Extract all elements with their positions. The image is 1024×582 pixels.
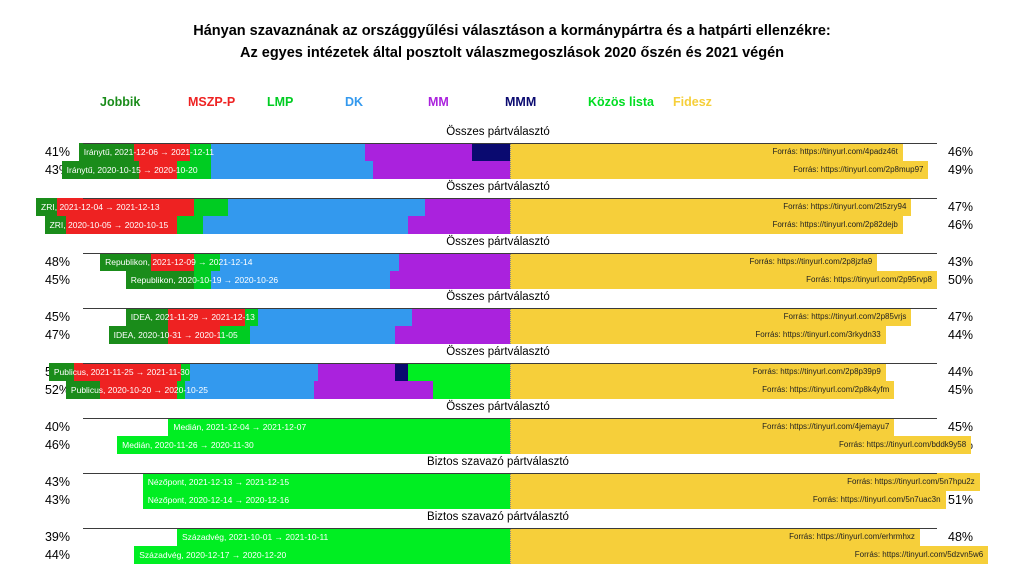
poll-rows: 48%43%Republikon, 2021-12-09 → 2021-12-1… bbox=[83, 253, 937, 289]
poll-institute-label: Republikon, 2020-10-19 → 2020-10-26 bbox=[131, 271, 278, 289]
bar-segment-mm bbox=[399, 253, 510, 271]
fidesz-percent-label: 47% bbox=[948, 308, 1008, 326]
source-link-label[interactable]: Forrás: https://tinyurl.com/3rkydn33 bbox=[755, 326, 880, 344]
poll-group: Összes pártválasztó40%45%Medián, 2021-12… bbox=[0, 401, 1024, 456]
opposition-percent-label: 44% bbox=[0, 546, 70, 564]
legend-item-fidesz: Fidesz bbox=[673, 95, 712, 109]
fifty-percent-gridline bbox=[510, 528, 511, 564]
source-link-label[interactable]: Forrás: https://tinyurl.com/2p85vrjs bbox=[784, 308, 907, 326]
fidesz-percent-label: 46% bbox=[948, 143, 1008, 161]
bar-segment-lmp bbox=[177, 216, 203, 234]
source-link-label[interactable]: Forrás: https://tinyurl.com/2p8p39p9 bbox=[753, 363, 881, 381]
source-link-label[interactable]: Forrás: https://tinyurl.com/2p82dejb bbox=[772, 216, 897, 234]
group-sample-text: Összes pártválasztó bbox=[446, 291, 550, 303]
bar-top-edge bbox=[83, 253, 937, 254]
bar-top-edge bbox=[83, 418, 937, 419]
bar-segment-mmm bbox=[395, 363, 408, 381]
group-sample-label: Összes pártválasztó bbox=[0, 291, 1024, 308]
source-link-label[interactable]: Forrás: https://tinyurl.com/5n7hpu2z bbox=[847, 473, 975, 491]
legend-item-jobbik: Jobbik bbox=[100, 95, 140, 109]
poll-institute-label: Medián, 2020-11-26 → 2020-11-30 bbox=[122, 436, 254, 454]
page-title: Hányan szavaznának az országgyűlési vála… bbox=[0, 20, 1024, 64]
opposition-percent-label: 47% bbox=[0, 326, 70, 344]
group-sample-text: Biztos szavazó pártválasztó bbox=[427, 456, 569, 468]
poll-institute-label: IDEA, 2021-11-29 → 2021-12-13 bbox=[131, 308, 255, 326]
group-sample-text: Összes pártválasztó bbox=[446, 346, 550, 358]
fifty-percent-gridline bbox=[510, 473, 511, 509]
fidesz-percent-label: 44% bbox=[948, 326, 1008, 344]
fidesz-percent-label: 44% bbox=[948, 363, 1008, 381]
poll-institute-label: Republikon, 2021-12-09 → 2021-12-14 bbox=[105, 253, 252, 271]
bar-segment-mm bbox=[365, 143, 472, 161]
poll-group: Biztos szavazó pártválasztó43%55%Nézőpon… bbox=[0, 456, 1024, 511]
source-link-label[interactable]: Forrás: https://tinyurl.com/5n7uac3n bbox=[813, 491, 941, 509]
fidesz-percent-label: 45% bbox=[948, 381, 1008, 399]
group-sample-label: Összes pártválasztó bbox=[0, 126, 1024, 143]
bar-segment-dk bbox=[211, 161, 373, 179]
bar-segment-dk bbox=[228, 198, 424, 216]
bar-segment-mm bbox=[373, 161, 510, 179]
source-link-label[interactable]: Forrás: https://tinyurl.com/2p95rvp8 bbox=[806, 271, 932, 289]
bar-top-edge bbox=[83, 528, 937, 529]
group-sample-label: Összes pártválasztó bbox=[0, 181, 1024, 198]
poll-group: Összes pártválasztó45%47%IDEA, 2021-11-2… bbox=[0, 291, 1024, 346]
poll-group: Összes pártválasztó54%44%Publicus, 2021-… bbox=[0, 346, 1024, 401]
poll-group: Összes pártválasztó47%47%ZRI, 2021-12-04… bbox=[0, 181, 1024, 236]
bar-segment-dk bbox=[250, 326, 395, 344]
poll-rows: 54%44%Publicus, 2021-11-25 → 2021-11-30F… bbox=[83, 363, 937, 399]
poll-institute-label: ZRI, 2021-12-04 → 2021-12-13 bbox=[41, 198, 160, 216]
source-link-label[interactable]: Forrás: https://tinyurl.com/erhrmhxz bbox=[789, 528, 915, 546]
group-sample-text: Összes pártválasztó bbox=[446, 236, 550, 248]
bar-segment-mm bbox=[390, 271, 510, 289]
opposition-percent-label: 41% bbox=[0, 143, 70, 161]
poll-institute-label: ZRI, 2020-10-05 → 2020-10-15 bbox=[50, 216, 169, 234]
opposition-percent-label: 48% bbox=[0, 253, 70, 271]
fifty-percent-gridline bbox=[510, 418, 511, 454]
opposition-percent-label: 43% bbox=[0, 161, 70, 179]
poll-rows: 40%45%Medián, 2021-12-04 → 2021-12-07For… bbox=[83, 418, 937, 454]
bar-top-edge bbox=[83, 198, 937, 199]
legend-item-dk: DK bbox=[345, 95, 363, 109]
opposition-percent-label: 45% bbox=[0, 271, 70, 289]
fidesz-percent-label: 47% bbox=[948, 198, 1008, 216]
poll-institute-label: Nézőpont, 2021-12-13 → 2021-12-15 bbox=[148, 473, 289, 491]
opposition-percent-label: 43% bbox=[0, 491, 70, 509]
chart-body: Összes pártválasztó41%46%Iránytű, 2021-1… bbox=[0, 126, 1024, 566]
bar-segment-dk bbox=[190, 363, 318, 381]
legend-item-mmm: MMM bbox=[505, 95, 536, 109]
legend-item-k-z-s-lista: Közös lista bbox=[588, 95, 654, 109]
bar-segment-mm bbox=[314, 381, 434, 399]
fidesz-percent-label: 50% bbox=[948, 271, 1008, 289]
group-sample-label: Biztos szavazó pártválasztó bbox=[0, 456, 1024, 473]
bar-segment-dk bbox=[211, 143, 365, 161]
poll-institute-label: IDEA, 2020-10-31 → 2020-11-05 bbox=[114, 326, 238, 344]
bar-segment-mm bbox=[395, 326, 510, 344]
bar-segment-dk bbox=[203, 216, 408, 234]
source-link-label[interactable]: Forrás: https://tinyurl.com/5dzvn5w6 bbox=[855, 546, 984, 564]
legend-item-mszp-p: MSZP-P bbox=[188, 95, 235, 109]
poll-rows: 47%47%ZRI, 2021-12-04 → 2021-12-13Forrás… bbox=[83, 198, 937, 234]
fifty-percent-gridline bbox=[510, 143, 511, 179]
poll-institute-label: Medián, 2021-12-04 → 2021-12-07 bbox=[173, 418, 306, 436]
source-link-label[interactable]: Forrás: https://tinyurl.com/bddk9y58 bbox=[839, 436, 966, 454]
bar-segment-dk bbox=[258, 308, 412, 326]
source-link-label[interactable]: Forrás: https://tinyurl.com/2p8k4yfm bbox=[762, 381, 889, 399]
poll-rows: 43%55%Nézőpont, 2021-12-13 → 2021-12-15F… bbox=[83, 473, 937, 509]
fidesz-percent-label: 51% bbox=[948, 491, 1008, 509]
poll-institute-label: Iránytű, 2021-12-06 → 2021-12-11 bbox=[84, 143, 214, 161]
source-link-label[interactable]: Forrás: https://tinyurl.com/4padz46t bbox=[772, 143, 897, 161]
source-link-label[interactable]: Forrás: https://tinyurl.com/2p8jzfa9 bbox=[750, 253, 873, 271]
poll-group: Összes pártválasztó48%43%Republikon, 202… bbox=[0, 236, 1024, 291]
fifty-percent-gridline bbox=[510, 308, 511, 344]
group-sample-label: Összes pártválasztó bbox=[0, 401, 1024, 418]
opposition-percent-label: 40% bbox=[0, 418, 70, 436]
fifty-percent-gridline bbox=[510, 253, 511, 289]
bar-segment-k-z-s-lista bbox=[433, 381, 510, 399]
poll-institute-label: Publicus, 2020-10-20 → 2020-10-25 bbox=[71, 381, 208, 399]
poll-institute-label: Századvég, 2021-10-01 → 2021-10-11 bbox=[182, 528, 328, 546]
poll-institute-label: Iránytű, 2020-10-15 → 2020-10-20 bbox=[67, 161, 198, 179]
legend-item-mm: MM bbox=[428, 95, 449, 109]
source-link-label[interactable]: Forrás: https://tinyurl.com/2p8mup97 bbox=[793, 161, 923, 179]
chart-legend: JobbikMSZP-PLMPDKMMMMMKözös listaFidesz bbox=[83, 95, 941, 113]
group-sample-label: Biztos szavazó pártválasztó bbox=[0, 511, 1024, 528]
title-line-1: Hányan szavaznának az országgyűlési vála… bbox=[0, 20, 1024, 42]
bar-segment-mmm bbox=[472, 143, 510, 161]
poll-group: Összes pártválasztó41%46%Iránytű, 2021-1… bbox=[0, 126, 1024, 181]
bar-segment-mm bbox=[318, 363, 395, 381]
poll-institute-label: Nézőpont, 2020-12-14 → 2020-12-16 bbox=[148, 491, 289, 509]
poll-institute-label: Századvég, 2020-12-17 → 2020-12-20 bbox=[139, 546, 286, 564]
bar-top-edge bbox=[83, 143, 937, 144]
bar-segment-lmp bbox=[194, 198, 228, 216]
fifty-percent-gridline bbox=[510, 198, 511, 234]
poll-rows: 41%46%Iránytű, 2021-12-06 → 2021-12-11Fo… bbox=[83, 143, 937, 179]
fidesz-percent-label: 46% bbox=[948, 216, 1008, 234]
title-line-2: Az egyes intézetek által posztolt válasz… bbox=[0, 42, 1024, 64]
opposition-percent-label: 46% bbox=[0, 436, 70, 454]
bar-segment-mm bbox=[412, 308, 510, 326]
poll-rows: 39%48%Századvég, 2021-10-01 → 2021-10-11… bbox=[83, 528, 937, 564]
group-sample-text: Összes pártválasztó bbox=[446, 181, 550, 193]
fidesz-percent-label: 49% bbox=[948, 161, 1008, 179]
group-sample-text: Összes pártválasztó bbox=[446, 401, 550, 413]
fidesz-percent-label: 48% bbox=[948, 528, 1008, 546]
opposition-percent-label: 45% bbox=[0, 308, 70, 326]
bar-segment-mm bbox=[425, 198, 510, 216]
bar-segment-k-z-s-lista bbox=[408, 363, 510, 381]
opposition-percent-label: 52% bbox=[0, 381, 70, 399]
group-sample-text: Összes pártválasztó bbox=[446, 126, 550, 138]
group-sample-text: Biztos szavazó pártválasztó bbox=[427, 511, 569, 523]
source-link-label[interactable]: Forrás: https://tinyurl.com/2t5zry94 bbox=[783, 198, 906, 216]
bar-top-edge bbox=[83, 363, 937, 364]
opposition-percent-label: 43% bbox=[0, 473, 70, 491]
group-sample-label: Összes pártválasztó bbox=[0, 346, 1024, 363]
poll-institute-label: Publicus, 2021-11-25 → 2021-11-30 bbox=[54, 363, 190, 381]
bar-top-edge bbox=[83, 308, 937, 309]
bar-top-edge bbox=[83, 473, 937, 474]
opposition-percent-label: 39% bbox=[0, 528, 70, 546]
poll-rows: 45%47%IDEA, 2021-11-29 → 2021-12-13Forrá… bbox=[83, 308, 937, 344]
fidesz-percent-label: 43% bbox=[948, 253, 1008, 271]
poll-group: Biztos szavazó pártválasztó39%48%Századv… bbox=[0, 511, 1024, 566]
group-sample-label: Összes pártválasztó bbox=[0, 236, 1024, 253]
bar-segment-mm bbox=[408, 216, 510, 234]
legend-item-lmp: LMP bbox=[267, 95, 293, 109]
source-link-label[interactable]: Forrás: https://tinyurl.com/4jemayu7 bbox=[762, 418, 889, 436]
fidesz-percent-label: 45% bbox=[948, 418, 1008, 436]
fifty-percent-gridline bbox=[510, 363, 511, 399]
